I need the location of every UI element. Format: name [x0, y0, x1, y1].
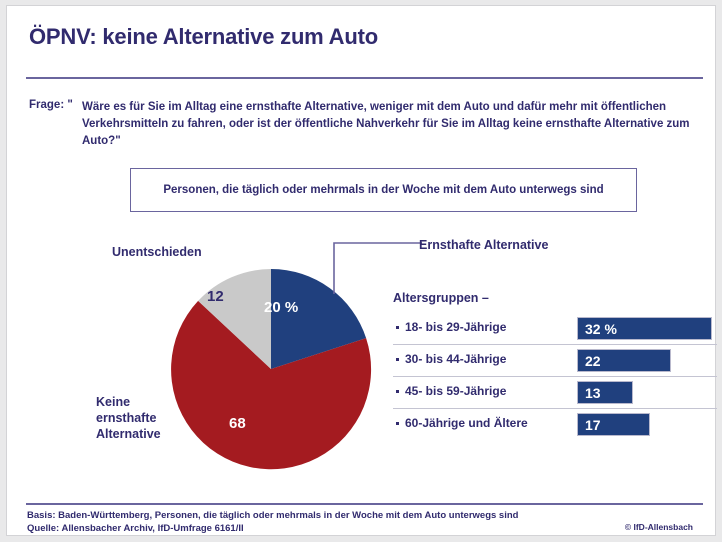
table-row: 30- bis 44-Jährige 22 [393, 344, 717, 376]
pie-value-unentschieden: 12 [207, 288, 224, 305]
page-title: ÖPNV: keine Alternative zum Auto [29, 24, 378, 50]
pie-value-keine-alternative: 68 [229, 415, 246, 432]
bullet-icon [396, 390, 399, 393]
bar-18-29: 32 % [577, 317, 712, 340]
population-box: Personen, die täglich oder mehrmals in d… [130, 168, 637, 212]
leader-line [327, 238, 422, 294]
question-text: Wäre es für Sie im Alltag eine ernsthaft… [82, 99, 692, 150]
infographic-card: ÖPNV: keine Alternative zum Auto Frage: … [6, 5, 716, 536]
age-groups-heading: Altersgruppen – [393, 291, 489, 305]
copyright-notice: © IfD-Allensbach [625, 522, 693, 532]
question-label: Frage: " [29, 99, 73, 111]
bar-45-59: 13 [577, 381, 633, 404]
bar-60-plus: 17 [577, 413, 650, 436]
footer-basis-line: Basis: Baden-Württemberg, Personen, die … [27, 509, 518, 522]
bar-value: 22 [585, 353, 601, 369]
age-group-label: 30- bis 44-Jährige [405, 352, 506, 366]
bar-value: 32 % [585, 321, 617, 337]
bullet-icon [396, 326, 399, 329]
age-group-label: 60-Jährige und Ältere [405, 416, 528, 430]
table-row: 45- bis 59-Jährige 13 [393, 376, 717, 408]
bar-value: 13 [585, 385, 601, 401]
age-groups-table: 18- bis 29-Jährige 32 % 30- bis 44-Jähri… [393, 313, 717, 440]
legend-ernsthafte-alternative: Ernsthafte Alternative [419, 238, 548, 252]
table-row: 18- bis 29-Jährige 32 % [393, 313, 717, 344]
title-divider [26, 77, 703, 79]
bullet-icon [396, 358, 399, 361]
table-row: 60-Jährige und Ältere 17 [393, 408, 717, 440]
pie-label-unentschieden: Unentschieden [112, 244, 202, 260]
bullet-icon [396, 422, 399, 425]
population-text: Personen, die täglich oder mehrmals in d… [163, 182, 603, 198]
pie-value-ernsthafte-alternative: 20 % [264, 299, 298, 316]
footer-basis: Basis: Baden-Württemberg, Personen, die … [27, 509, 518, 535]
bar-value: 17 [585, 417, 601, 433]
footer-divider [26, 503, 703, 505]
footer-source-line: Quelle: Allensbacher Archiv, IfD-Umfrage… [27, 522, 518, 535]
age-group-label: 18- bis 29-Jährige [405, 320, 506, 334]
pie-label-keine-alternative: Keine ernsthafte Alternative [96, 394, 186, 442]
age-group-label: 45- bis 59-Jährige [405, 384, 506, 398]
bar-30-44: 22 [577, 349, 671, 372]
